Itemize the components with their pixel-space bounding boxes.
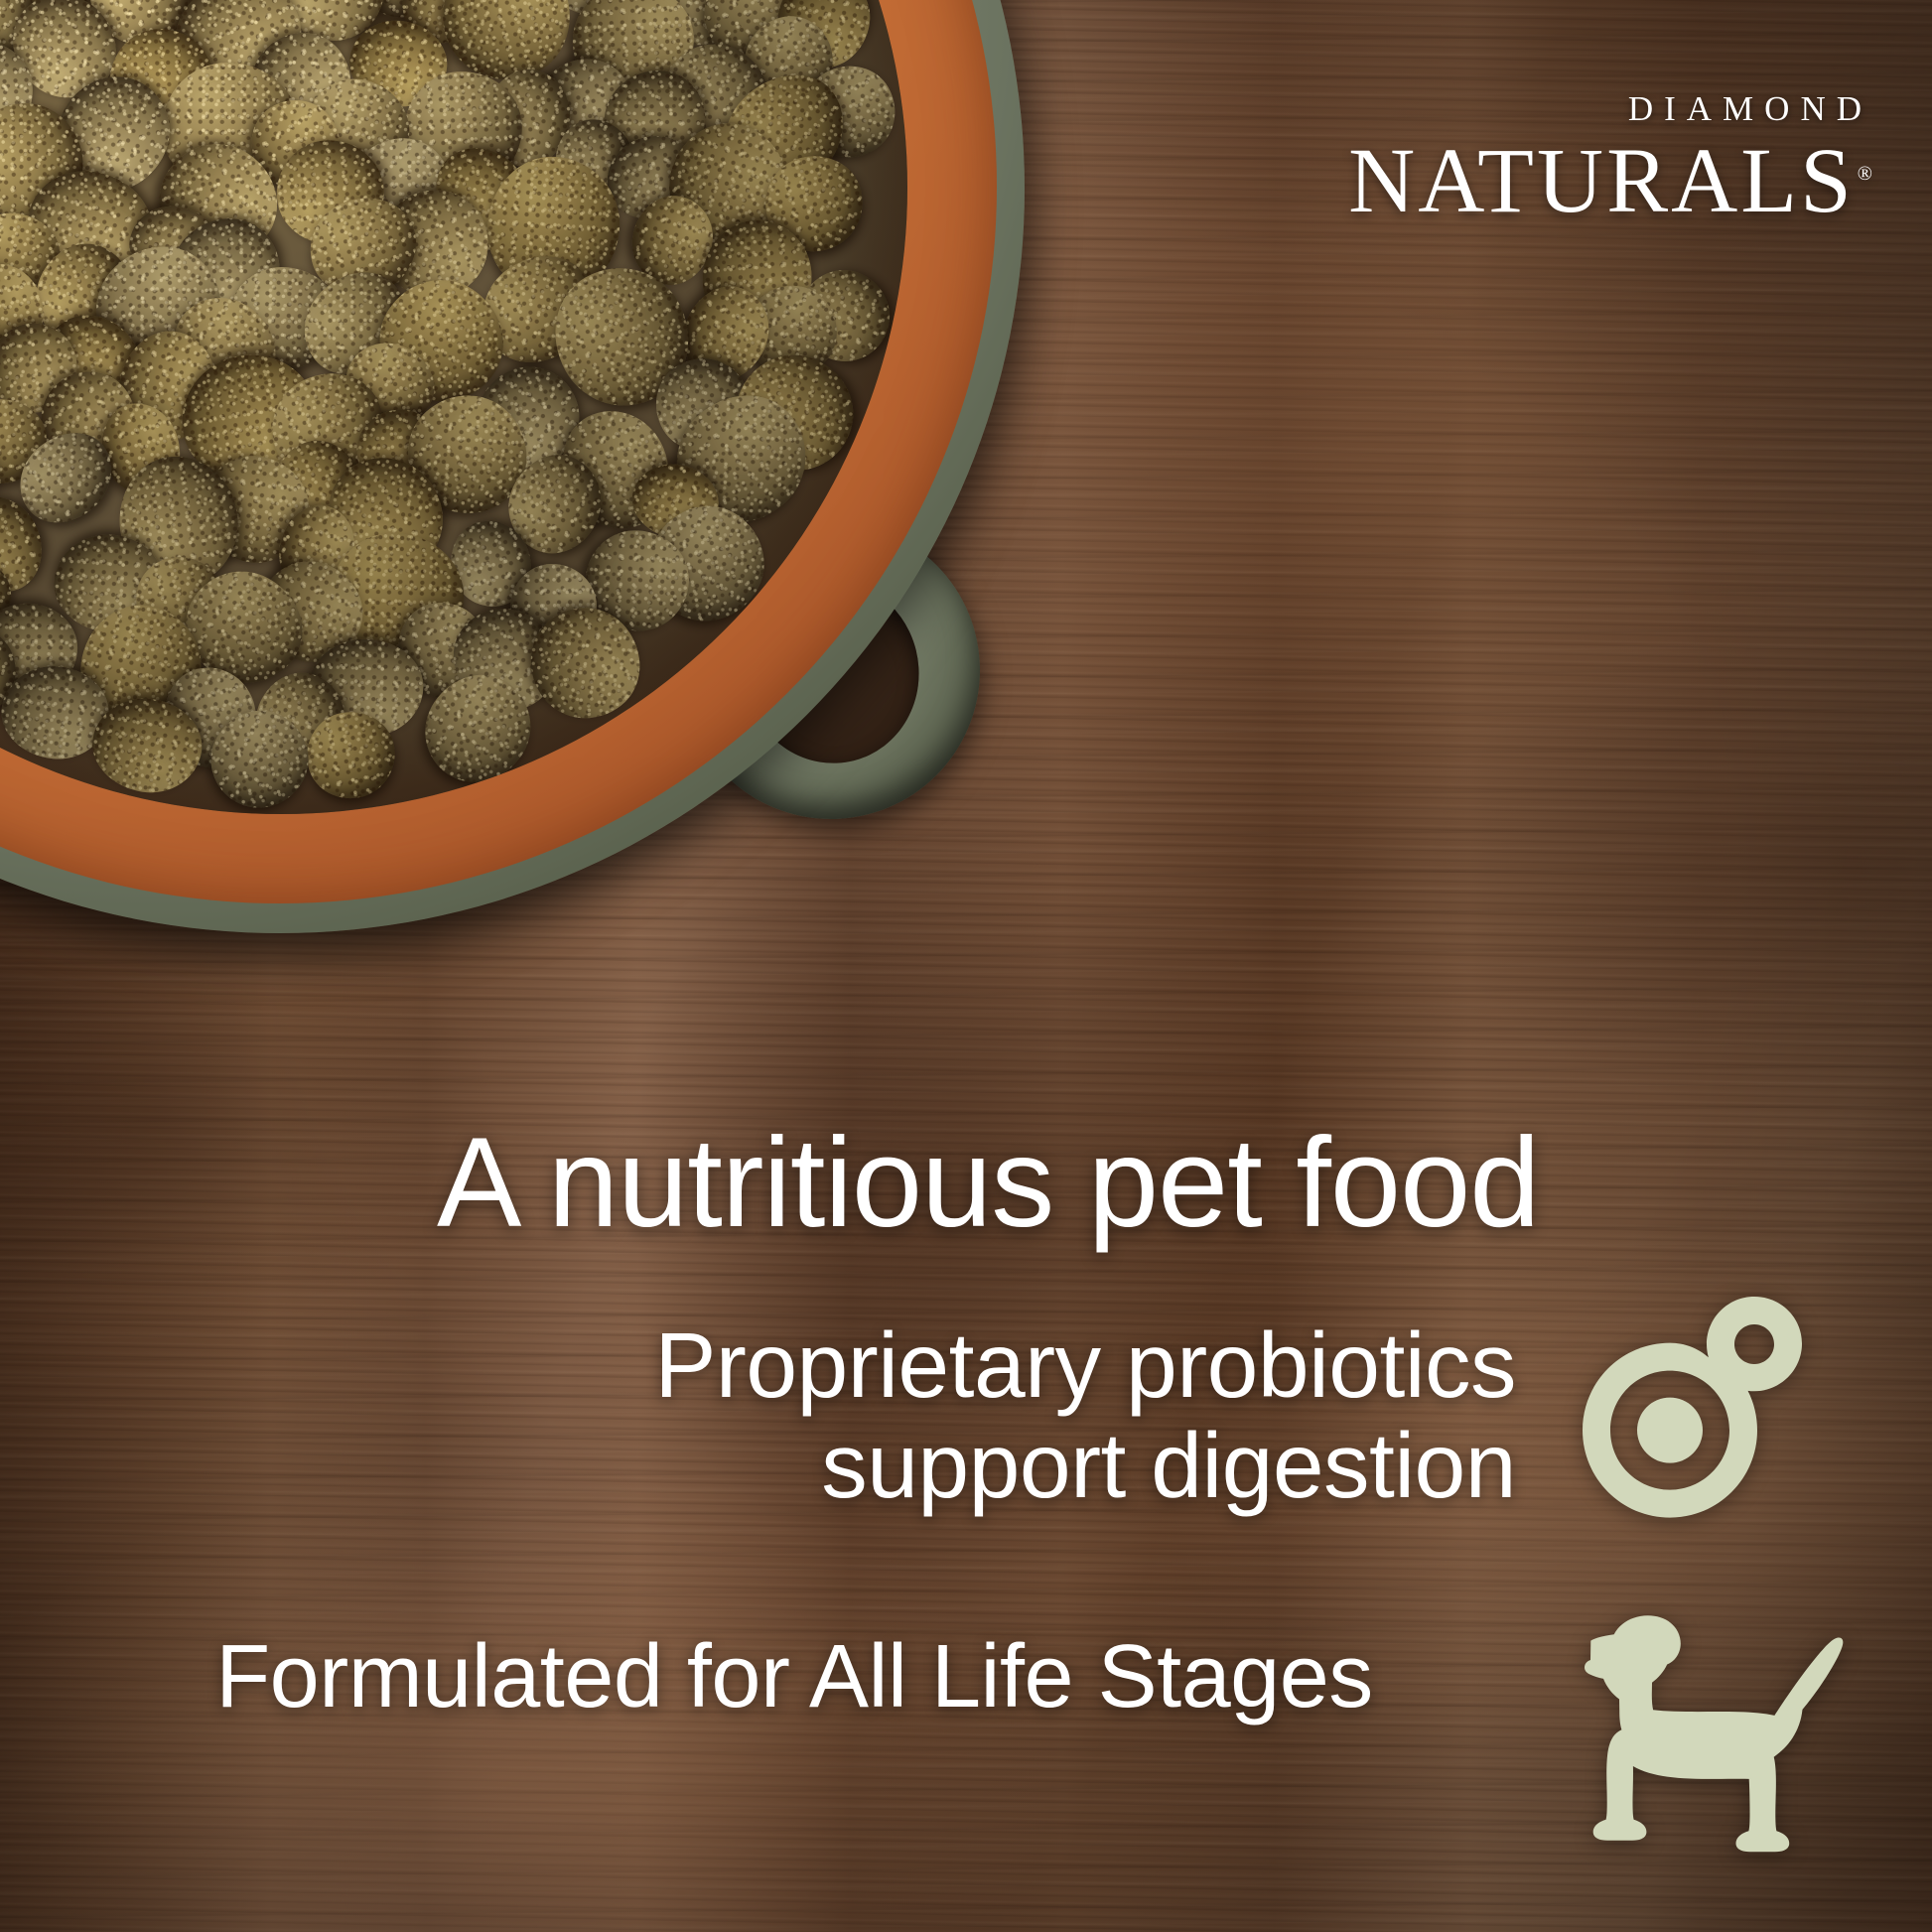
brand-name-text: NATURALS [1348, 130, 1855, 232]
probiotic-cell-icon [1561, 1289, 1827, 1555]
brand-name: NATURALS® [1348, 132, 1872, 231]
registered-trademark-icon: ® [1858, 163, 1872, 185]
product-lifestyle-image: DIAMOND NATURALS® A nutritious pet food … [0, 0, 1932, 1932]
kibble-pile [0, 0, 907, 814]
dog-food-bowl [0, 0, 1044, 953]
claim-line-1: Proprietary probiotics [449, 1315, 1516, 1416]
tagline: Formulated for All Life Stages [79, 1628, 1509, 1726]
claim-line-2: support digestion [449, 1416, 1516, 1516]
brand-eyebrow: DIAMOND [1348, 91, 1872, 126]
dachshund-dog-icon [1549, 1588, 1866, 1857]
probiotics-claim: Proprietary probiotics support digestion [449, 1315, 1516, 1517]
headline: A nutritious pet food [437, 1120, 1539, 1247]
brand-logo: DIAMOND NATURALS® [1348, 91, 1872, 231]
